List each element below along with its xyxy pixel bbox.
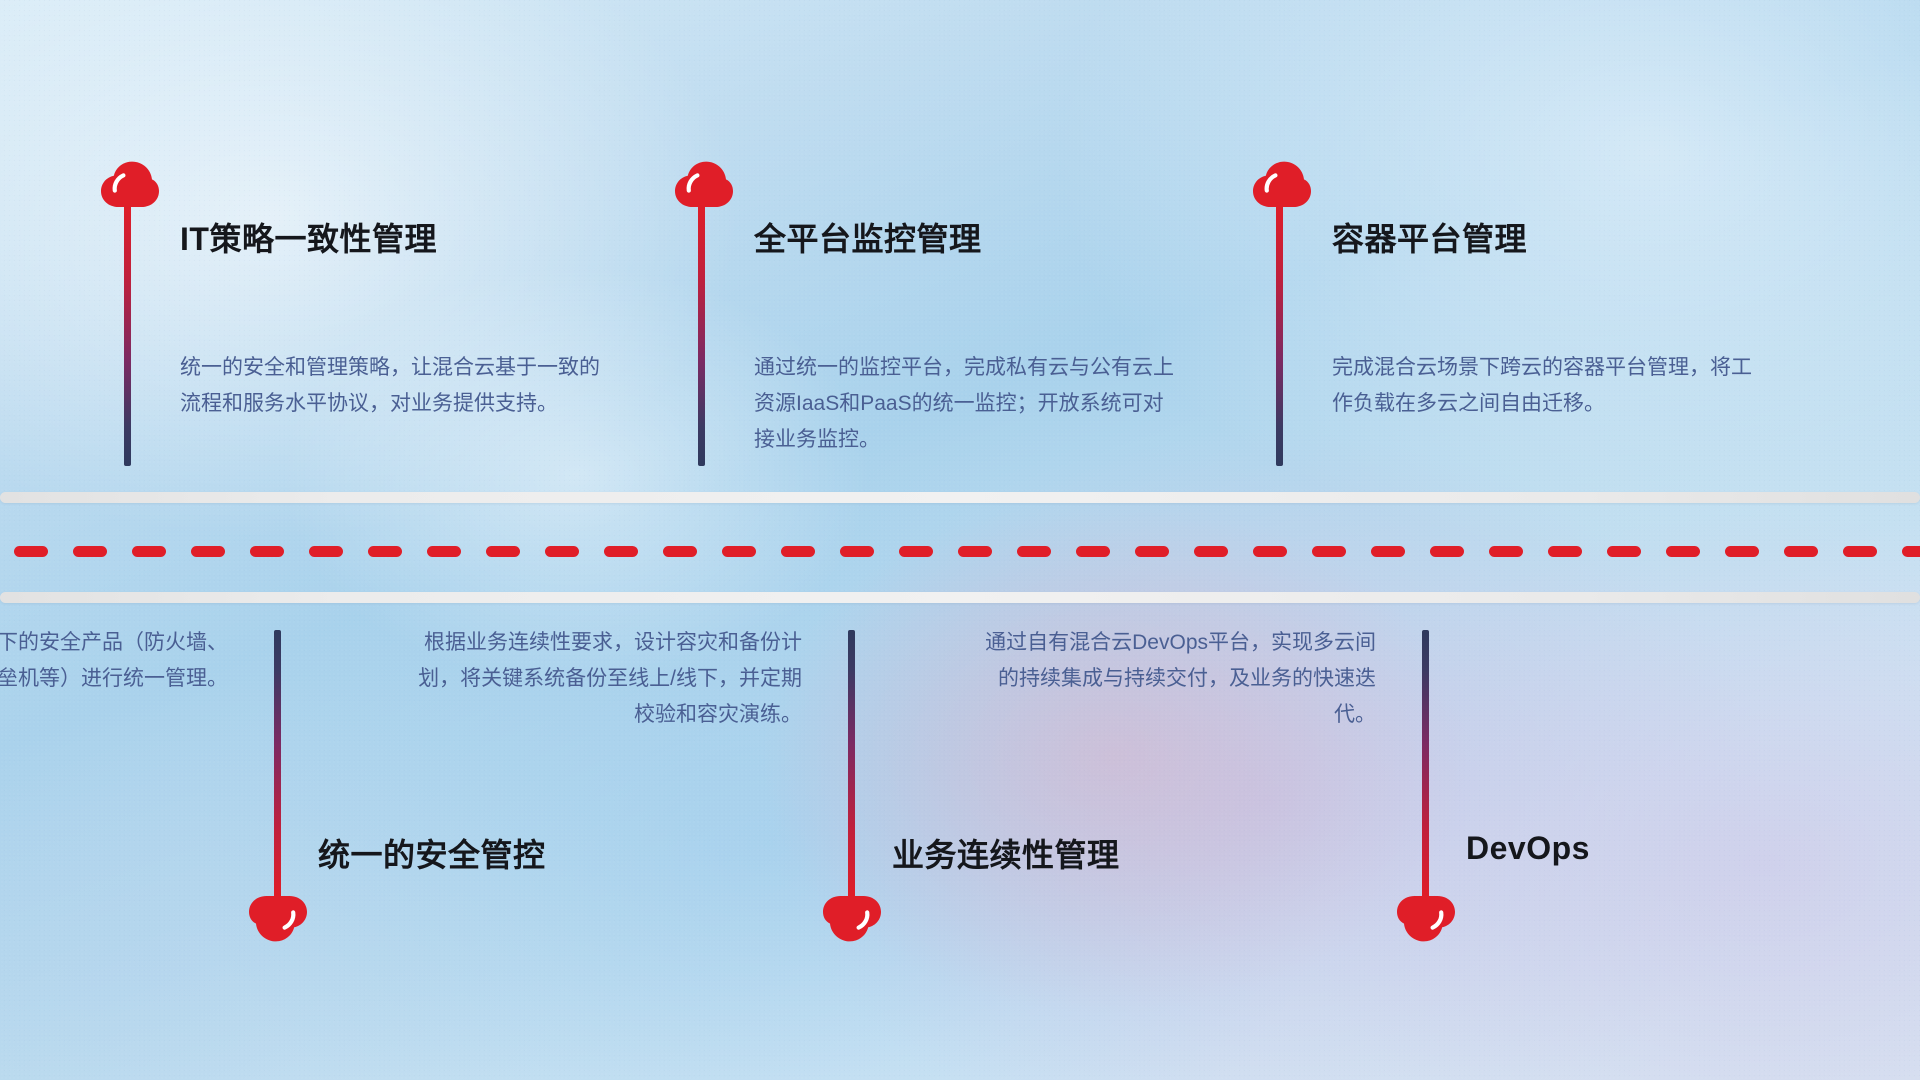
road-edge-upper	[0, 492, 1920, 503]
cloud-icon	[248, 895, 310, 943]
road-dash	[309, 546, 343, 557]
road-dash	[545, 546, 579, 557]
road-center-dashes	[0, 546, 1920, 557]
stem-line	[848, 630, 855, 898]
top-title-2: 全平台监控管理	[754, 214, 982, 260]
marker-top-3	[1250, 160, 1312, 208]
road-dash	[1253, 546, 1287, 557]
stem-line	[124, 204, 131, 466]
top-title-3: 容器平台管理	[1332, 214, 1527, 260]
road-dash	[722, 546, 756, 557]
road-edge-lower	[0, 592, 1920, 603]
stem-line	[698, 204, 705, 466]
road-dash	[486, 546, 520, 557]
road-dash	[1666, 546, 1700, 557]
road-dash	[368, 546, 402, 557]
bottom-description-3: 通过自有混合云DevOps平台，实现多云间的持续集成与持续交付，及业务的快速迭代…	[976, 625, 1376, 733]
road-dash	[427, 546, 461, 557]
marker-top-1	[98, 160, 160, 208]
road-dash	[14, 546, 48, 557]
road-dash	[604, 546, 638, 557]
road-dash	[1607, 546, 1641, 557]
cloud-icon	[1396, 895, 1458, 943]
road-dash	[1194, 546, 1228, 557]
bottom-description-2: 根据业务连续性要求，设计容灾和备份计划，将关键系统备份至线上/线下，并定期校验和…	[402, 625, 802, 733]
bottom-description-1: 对于混合云场景下的安全产品（防火墙、WAF、堡垒机等）进行统一管理。	[0, 625, 228, 697]
cloud-icon	[98, 160, 160, 208]
bottom-title-3: DevOps	[1466, 830, 1590, 867]
road-dash	[1843, 546, 1877, 557]
stem-line	[1422, 630, 1429, 898]
road-dash	[1371, 546, 1405, 557]
marker-top-2	[672, 160, 734, 208]
road-dash	[132, 546, 166, 557]
road-dash	[840, 546, 874, 557]
top-title-1: IT策略一致性管理	[180, 214, 437, 260]
stem-line	[1276, 204, 1283, 466]
top-description-1: 统一的安全和管理策略，让混合云基于一致的流程和服务水平协议，对业务提供支持。	[180, 350, 600, 422]
road-dash	[1312, 546, 1346, 557]
top-description-2: 通过统一的监控平台，完成私有云与公有云上资源IaaS和PaaS的统一监控；开放系…	[754, 350, 1174, 458]
bottom-title-2: 业务连续性管理	[892, 830, 1120, 876]
road-dash	[1902, 546, 1920, 557]
road-dash	[250, 546, 284, 557]
road-dash	[1135, 546, 1169, 557]
road-dash	[958, 546, 992, 557]
stem-line	[274, 630, 281, 898]
cloud-icon	[1250, 160, 1312, 208]
road-dash	[1489, 546, 1523, 557]
bottom-title-1: 统一的安全管控	[318, 830, 546, 876]
road-dash	[1725, 546, 1759, 557]
road-dash	[899, 546, 933, 557]
road-dash	[1548, 546, 1582, 557]
road-dash	[1017, 546, 1051, 557]
road-dash	[1784, 546, 1818, 557]
top-description-3: 完成混合云场景下跨云的容器平台管理，将工作负载在多云之间自由迁移。	[1332, 350, 1752, 422]
road-dash	[191, 546, 225, 557]
road-dash	[781, 546, 815, 557]
road-dash	[1076, 546, 1110, 557]
road-dash	[73, 546, 107, 557]
infographic-canvas: IT策略一致性管理统一的安全和管理策略，让混合云基于一致的流程和服务水平协议，对…	[0, 0, 1920, 1080]
road-dash	[663, 546, 697, 557]
cloud-icon	[822, 895, 884, 943]
road-dash	[1430, 546, 1464, 557]
cloud-icon	[672, 160, 734, 208]
